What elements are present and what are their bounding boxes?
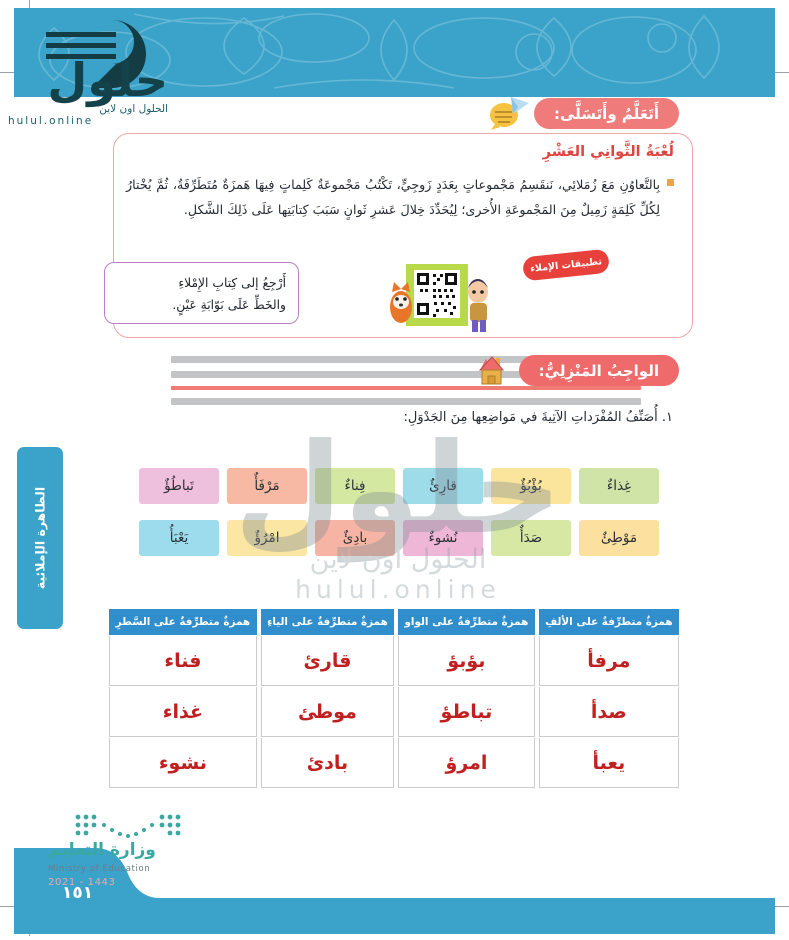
classification-table: همزةٌ متطرِّفةٌ على الألفِ همزةٌ متطرِّف… bbox=[105, 608, 683, 789]
section-header-learn: أَتَعَلَّمُ وأَتَسَلَّى: bbox=[534, 98, 679, 129]
word-card[interactable]: قارِئٌ bbox=[403, 468, 483, 504]
sidebar-tab-spelling-phenomenon[interactable]: الظاهرة الإملائية bbox=[17, 447, 63, 629]
ministry-name-arabic: وزارة التعليم bbox=[48, 840, 156, 860]
table-cell[interactable]: بادئ bbox=[261, 738, 394, 788]
decorative-line bbox=[171, 398, 641, 405]
activity-description: بِالتَّعاوُنِ مَعَ زُمَلائِي، نَنقَسِمُ … bbox=[126, 172, 660, 222]
table-cell[interactable]: موطئ bbox=[261, 687, 394, 737]
table-cell[interactable]: يعبأ bbox=[539, 738, 679, 788]
word-card[interactable]: يَعْبَأُ bbox=[139, 520, 219, 556]
table-row: يعبأ امرؤ بادئ نشوء bbox=[109, 738, 679, 788]
section-header-homework: الواجِبُ المَنْزِلِيُّ: bbox=[519, 355, 679, 386]
brand-url: hulul.online bbox=[8, 115, 168, 127]
brand-name: حلول bbox=[8, 55, 168, 105]
table-header-cell: همزةٌ متطرِّفةٌ على السَّطرِ bbox=[109, 609, 257, 635]
qr-activity-text: أَرْجِعُ إلى كِتابِ الإِمْلاءِ والخَطِّ … bbox=[172, 272, 286, 316]
word-card[interactable]: صَدَأٌ bbox=[491, 520, 571, 556]
page-number: ١٥١ bbox=[62, 883, 93, 903]
word-card[interactable]: مَوْطِئٌ bbox=[579, 520, 659, 556]
task-instruction: ١. أُصَنِّفُ المُفْرَداتِ الآتِيةَ في مَ… bbox=[404, 410, 673, 425]
textbook-page: حلول الحلول اون لاين hulul.online أَتَعَ… bbox=[0, 0, 789, 936]
table-cell[interactable]: نشوء bbox=[109, 738, 257, 788]
sidebar-tab-label: الظاهرة الإملائية bbox=[33, 487, 48, 589]
word-card[interactable]: بُؤْبُؤٌ bbox=[491, 468, 571, 504]
word-card[interactable]: تَباطُؤٌ bbox=[139, 468, 219, 504]
paper-plane-speech-icon bbox=[487, 94, 531, 130]
boy-character bbox=[468, 279, 488, 332]
word-card[interactable]: بادِئٌ bbox=[315, 520, 395, 556]
activity-title: لُعْبَةُ الثَّوانِي العَشْرِ bbox=[543, 144, 674, 160]
table-header-cell: همزةٌ متطرِّفةٌ على الياءِ bbox=[261, 609, 394, 635]
table-cell[interactable]: بؤبؤ bbox=[398, 636, 535, 686]
word-card-row-1: غِذاءٌ بُؤْبُؤٌ قارِئٌ فِناءٌ مَرْفَأٌ ت… bbox=[129, 468, 659, 504]
table-cell[interactable]: تباطؤ bbox=[398, 687, 535, 737]
table-row: صدأ تباطؤ موطئ غذاء bbox=[109, 687, 679, 737]
activity-bullet: بِالتَّعاوُنِ مَعَ زُمَلائِي، نَنقَسِمُ … bbox=[126, 172, 674, 222]
table-header-cell: همزةٌ متطرِّفةٌ على الألفِ bbox=[539, 609, 679, 635]
table-cell[interactable]: صدأ bbox=[539, 687, 679, 737]
table-header-cell: همزةٌ متطرِّفةٌ على الواو bbox=[398, 609, 535, 635]
table-cell[interactable]: مرفأ bbox=[539, 636, 679, 686]
word-card[interactable]: غِذاءٌ bbox=[579, 468, 659, 504]
fox-character bbox=[390, 282, 412, 323]
table-cell[interactable]: فناء bbox=[109, 636, 257, 686]
qr-text-line-1: أَرْجِعُ إلى كِتابِ الإِمْلاءِ bbox=[172, 272, 286, 294]
qr-activity-box: أَرْجِعُ إلى كِتابِ الإِمْلاءِ والخَطِّ … bbox=[104, 262, 299, 324]
table-cell[interactable]: قارئ bbox=[261, 636, 394, 686]
qr-text-line-2: والخَطِّ عَلَى بَوّابَةِ عَيْنٍ. bbox=[172, 294, 286, 316]
word-cards-group: غِذاءٌ بُؤْبُؤٌ قارِئٌ فِناءٌ مَرْفَأٌ ت… bbox=[129, 468, 659, 572]
table-cell[interactable]: امرؤ bbox=[398, 738, 535, 788]
word-card[interactable]: نُشوءٌ bbox=[403, 520, 483, 556]
table-row: مرفأ بؤبؤ قارئ فناء bbox=[109, 636, 679, 686]
brand-watermark: حلول الحلول اون لاين hulul.online bbox=[8, 55, 168, 130]
watermark-url: hulul.online bbox=[168, 575, 628, 604]
qr-code-illustration[interactable] bbox=[384, 262, 494, 334]
table-header-row: همزةٌ متطرِّفةٌ على الألفِ همزةٌ متطرِّف… bbox=[109, 609, 679, 635]
word-card[interactable]: امْرُؤٌ bbox=[227, 520, 307, 556]
word-card[interactable]: فِناءٌ bbox=[315, 468, 395, 504]
decorative-line-accent bbox=[171, 386, 641, 390]
word-card-row-2: مَوْطِئٌ صَدَأٌ نُشوءٌ بادِئٌ امْرُؤٌ يَ… bbox=[129, 520, 659, 556]
ministry-name-english: Ministry of Education bbox=[48, 864, 150, 874]
house-icon bbox=[470, 354, 514, 390]
table-cell[interactable]: غذاء bbox=[109, 687, 257, 737]
bullet-square-icon bbox=[667, 179, 674, 186]
word-card[interactable]: مَرْفَأٌ bbox=[227, 468, 307, 504]
